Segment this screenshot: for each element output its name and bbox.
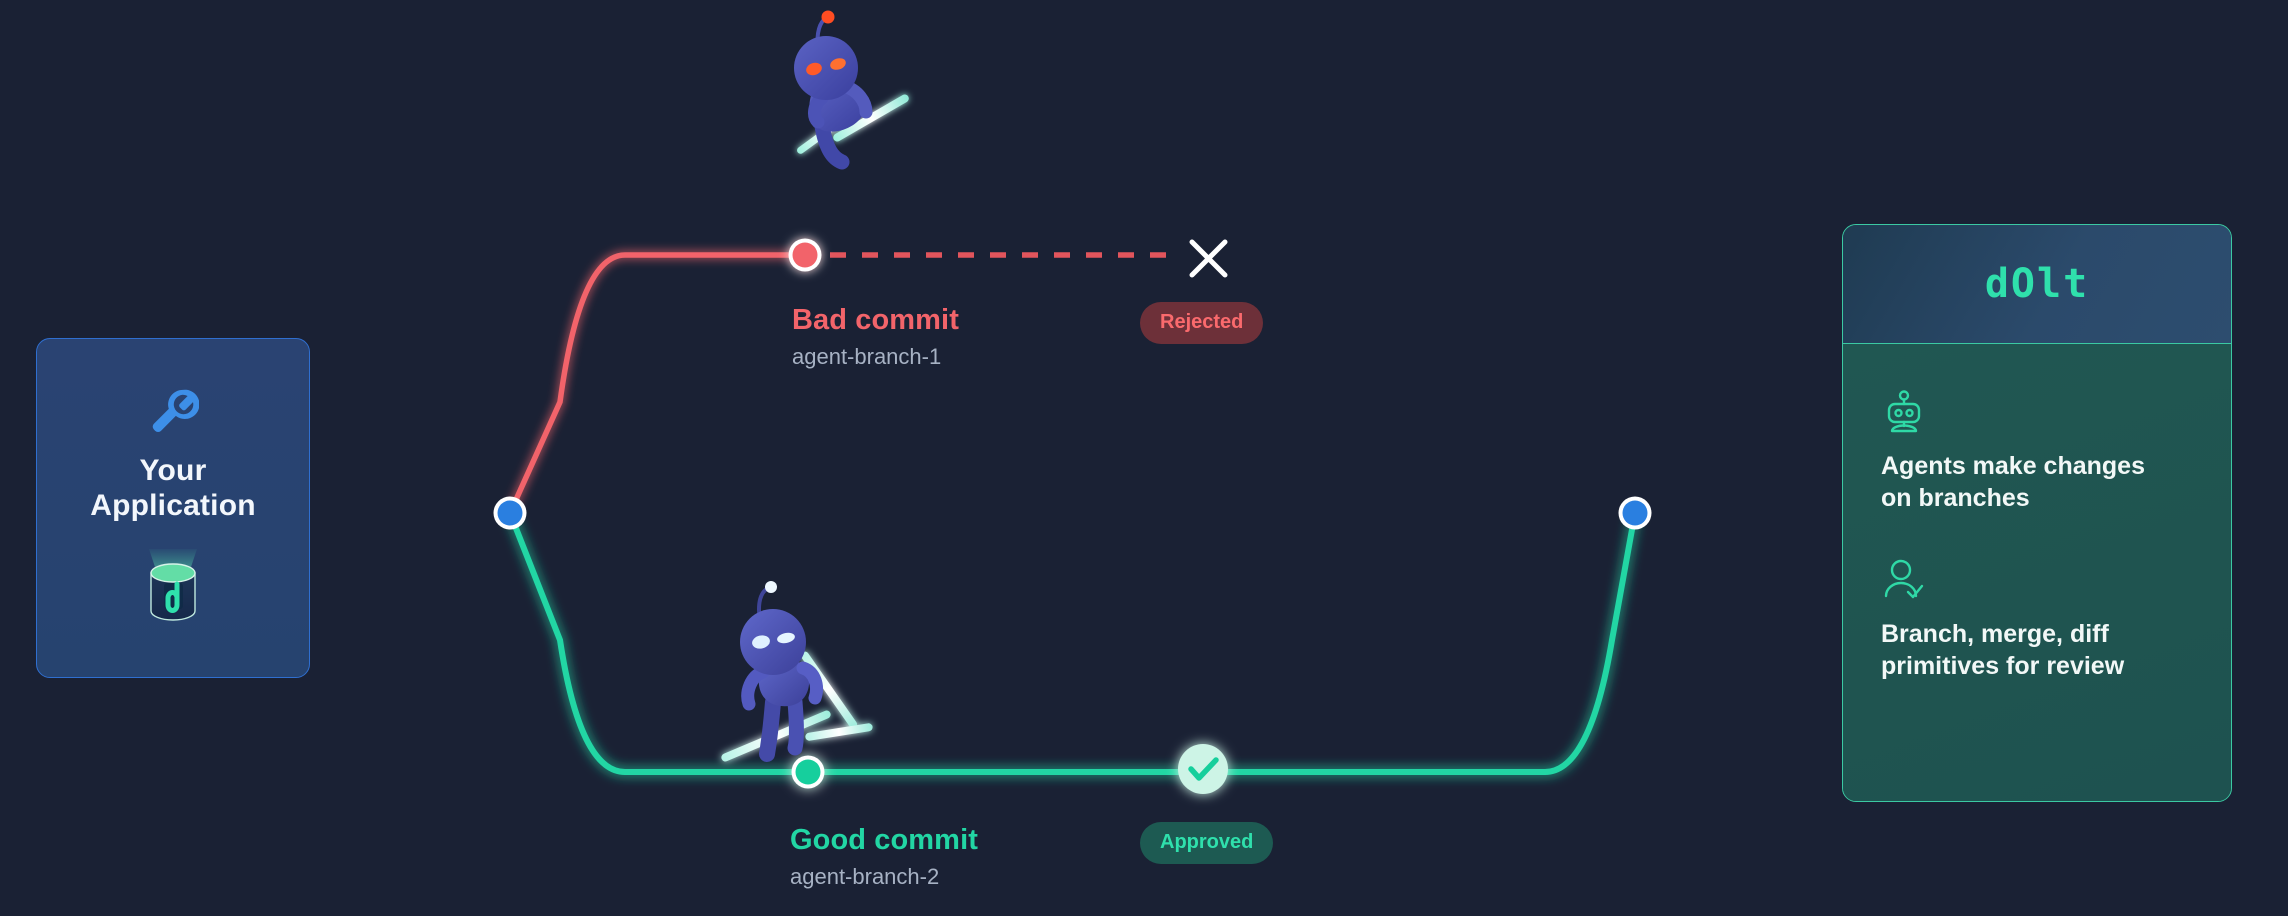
app-card-title-line1: Your — [90, 453, 256, 488]
feature-agents-branches-text: Agents make changes on branches — [1881, 450, 2181, 514]
bad-commit-label: Bad commit agent-branch-1 — [792, 305, 959, 369]
user-check-icon — [1881, 558, 1927, 602]
feature-agents-branches: Agents make changes on branches — [1881, 390, 2193, 514]
status-badge-rejected: Rejected — [1140, 302, 1263, 344]
status-badge-approved: Approved — [1140, 822, 1273, 864]
dolt-logo: dOlt — [1985, 261, 2089, 307]
bad-commit-branch-name: agent-branch-1 — [792, 345, 959, 369]
robot-skier-bad — [770, 6, 930, 186]
robot-skier-good — [705, 576, 880, 776]
feature-branch-merge-diff: Branch, merge, diff primitives for revie… — [1881, 558, 2193, 682]
bad-branch-line — [510, 255, 800, 513]
feature-branch-merge-diff-text: Branch, merge, diff primitives for revie… — [1881, 618, 2181, 682]
good-commit-branch-name: agent-branch-2 — [790, 865, 978, 889]
good-commit-label: Good commit agent-branch-2 — [790, 825, 978, 889]
diagram-canvas: Your Application — [0, 0, 2288, 916]
dolt-card-body: Agents make changes on branches Branch, … — [1843, 344, 2231, 802]
check-circle-icon — [1178, 744, 1228, 794]
dolt-card-header: dOlt — [1843, 225, 2231, 344]
bad-commit-title: Bad commit — [792, 305, 959, 337]
dolt-database-icon — [127, 543, 219, 631]
app-card-title-line2: Application — [90, 488, 256, 523]
wrench-icon — [147, 385, 199, 437]
bad-commit-node — [789, 239, 822, 272]
branch-point-node — [494, 497, 527, 530]
merge-point-node — [1619, 497, 1652, 530]
app-card-title: Your Application — [90, 453, 256, 523]
your-application-card: Your Application — [36, 338, 310, 678]
good-commit-title: Good commit — [790, 825, 978, 857]
robot-icon — [1881, 390, 1927, 434]
dolt-card: dOlt Agents make changes on branches — [1842, 224, 2232, 802]
good-branch-line — [510, 513, 1635, 772]
close-x-icon — [1192, 242, 1225, 275]
